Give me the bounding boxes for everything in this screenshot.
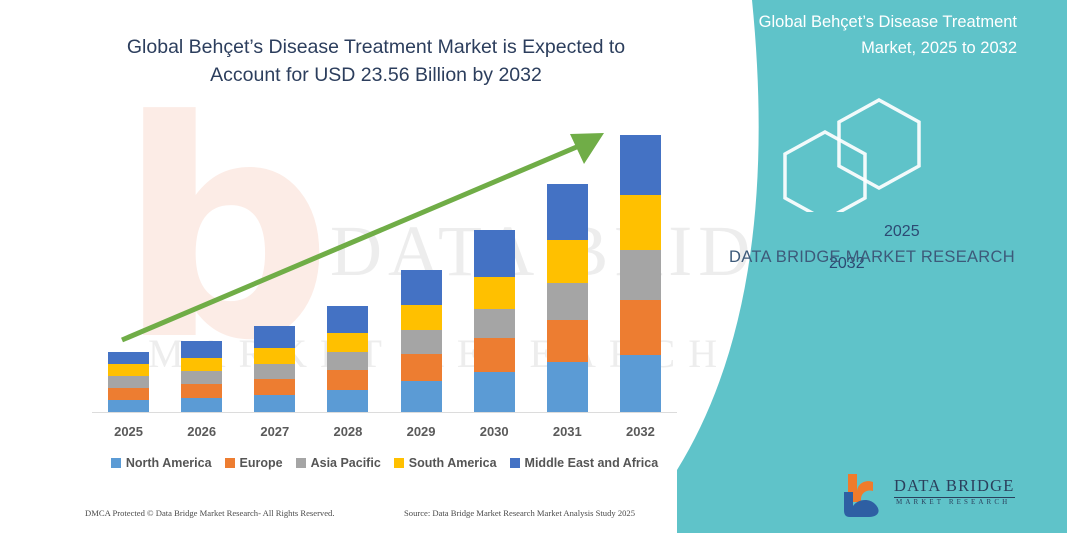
legend-swatch <box>296 458 306 468</box>
legend-item[interactable]: Asia Pacific <box>296 456 381 470</box>
infographic-canvas: b DATA BRIDGE MARKET RESEARCH Global Beh… <box>0 0 1067 533</box>
x-axis-tick-label: 2032 <box>604 424 677 439</box>
legend-label: South America <box>409 456 497 470</box>
legend-swatch <box>510 458 520 468</box>
legend-swatch <box>394 458 404 468</box>
legend-item[interactable]: North America <box>111 456 212 470</box>
x-axis-tick-label: 2031 <box>531 424 604 439</box>
growth-arrow-icon <box>92 110 677 413</box>
panel-title: Global Behçet’s Disease Treatment Market… <box>717 9 1017 61</box>
legend-label: Middle East and Africa <box>525 456 659 470</box>
legend-label: North America <box>126 456 212 470</box>
footer-copyright: DMCA Protected © Data Bridge Market Rese… <box>85 508 335 518</box>
hexagon-outlines <box>777 92 977 212</box>
legend-item[interactable]: Middle East and Africa <box>510 456 659 470</box>
legend-swatch <box>111 458 121 468</box>
brand-logo: DATA BRIDGE MARKET RESEARCH <box>842 472 1052 520</box>
hexagon-label-start: 2025 <box>884 223 920 241</box>
x-axis-tick-label: 2027 <box>238 424 311 439</box>
side-panel: Global Behçet’s Disease Treatment Market… <box>677 0 1067 533</box>
logo-mark-icon <box>842 472 892 518</box>
hexagon-group: 2025 2032 <box>777 92 977 212</box>
legend-label: Asia Pacific <box>311 456 381 470</box>
legend-item[interactable]: South America <box>394 456 497 470</box>
legend-swatch <box>225 458 235 468</box>
x-axis-labels: 20252026202720282029203020312032 <box>92 424 677 439</box>
chart-title: Global Behçet’s Disease Treatment Market… <box>96 33 656 89</box>
footer-source: Source: Data Bridge Market Research Mark… <box>404 508 635 518</box>
x-axis-tick-label: 2030 <box>458 424 531 439</box>
x-axis-tick-label: 2029 <box>385 424 458 439</box>
x-axis-tick-label: 2028 <box>311 424 384 439</box>
legend-item[interactable]: Europe <box>225 456 283 470</box>
legend-label: Europe <box>240 456 283 470</box>
x-axis-tick-label: 2026 <box>165 424 238 439</box>
chart-legend: North AmericaEuropeAsia PacificSouth Ame… <box>92 456 677 470</box>
x-axis-tick-label: 2025 <box>92 424 165 439</box>
logo-subtitle: MARKET RESEARCH <box>896 498 1010 506</box>
panel-brand-text: DATA BRIDGE MARKET RESEARCH <box>722 243 1022 271</box>
logo-title: DATA BRIDGE <box>894 476 1015 498</box>
